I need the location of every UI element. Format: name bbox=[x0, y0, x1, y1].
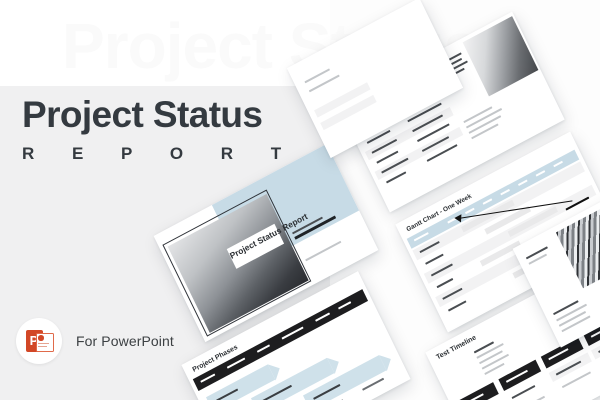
powerpoint-card-icon bbox=[36, 333, 54, 352]
timeline-heading: Test Timeline bbox=[435, 334, 477, 361]
title-slide-website bbox=[305, 241, 341, 262]
hero-title-block: Project Status R E P O R T bbox=[22, 96, 298, 164]
powerpoint-badge: P For PowerPoint bbox=[16, 318, 174, 364]
powerpoint-icon: P bbox=[16, 318, 62, 364]
page-subtitle: R E P O R T bbox=[22, 144, 298, 164]
page-title: Project Status bbox=[22, 96, 298, 135]
poster-canvas: Project Status Project Status Report Pro… bbox=[0, 0, 600, 400]
powerpoint-label: For PowerPoint bbox=[76, 333, 174, 349]
